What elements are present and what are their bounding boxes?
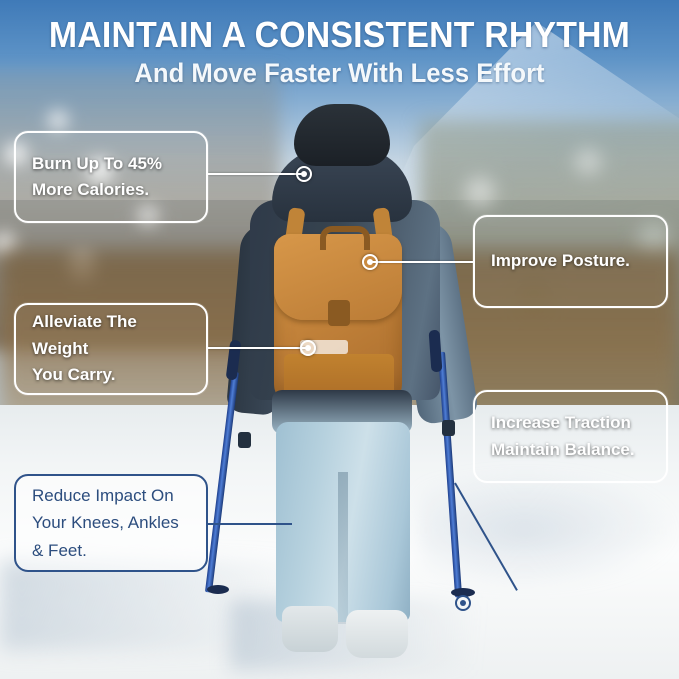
callout-reduce-impact-text: Reduce Impact On Your Knees, Ankles & Fe… <box>32 482 179 565</box>
pole-lock-right <box>442 420 455 436</box>
callout-burn-calories-text: Burn Up To 45% More Calories. <box>32 151 162 204</box>
beanie-hat <box>294 104 390 166</box>
callout-improve-posture[interactable]: Improve Posture. <box>473 215 668 308</box>
callout-burn-calories[interactable]: Burn Up To 45% More Calories. <box>14 131 208 223</box>
pole-lock-left <box>238 432 251 448</box>
connector-line-improve-posture <box>371 261 473 263</box>
infographic-canvas: MAINTAIN A CONSISTENT RHYTHM And Move Fa… <box>0 0 679 679</box>
target-dot-pole-tip <box>455 595 471 611</box>
target-dot-backpack-waist <box>300 340 316 356</box>
callout-line: Burn Up To 45% <box>32 151 162 177</box>
callout-line: Improve Posture. <box>491 248 630 274</box>
snow-boot-right <box>346 610 408 658</box>
callout-line: Alleviate The Weight <box>32 309 190 362</box>
callout-line: Maintain Balance. <box>491 437 635 463</box>
target-dot-shoulder <box>296 166 312 182</box>
callout-line: & Feet. <box>32 537 179 565</box>
callout-alleviate-weight[interactable]: Alleviate The Weight You Carry. <box>14 303 208 395</box>
callout-improve-posture-text: Improve Posture. <box>491 248 630 274</box>
callout-line: Increase Traction <box>491 410 635 436</box>
leg-separation <box>338 472 348 624</box>
connector-line-burn-calories <box>208 173 302 175</box>
hiker-figure <box>228 104 468 664</box>
callout-increase-traction-text: Increase Traction Maintain Balance. <box>491 410 635 463</box>
backpack-handle <box>320 226 370 250</box>
connector-line-alleviate-weight <box>208 347 307 349</box>
callout-line: You Carry. <box>32 362 190 388</box>
callout-increase-traction[interactable]: Increase Traction Maintain Balance. <box>473 390 668 483</box>
pole-basket-left <box>207 585 229 594</box>
callout-line: Reduce Impact On <box>32 482 179 510</box>
backpack-buckle <box>328 300 350 326</box>
callout-line: Your Knees, Ankles <box>32 509 179 537</box>
callout-alleviate-weight-text: Alleviate The Weight You Carry. <box>32 309 190 388</box>
target-dot-upper-back <box>362 254 378 270</box>
callout-reduce-impact[interactable]: Reduce Impact On Your Knees, Ankles & Fe… <box>14 474 208 572</box>
page-title: MAINTAIN A CONSISTENT RHYTHM <box>20 14 658 56</box>
snow-boot-left <box>282 606 338 652</box>
callout-line: More Calories. <box>32 177 162 203</box>
connector-line-reduce-impact <box>208 523 292 525</box>
page-subtitle: And Move Faster With Less Effort <box>17 58 662 89</box>
